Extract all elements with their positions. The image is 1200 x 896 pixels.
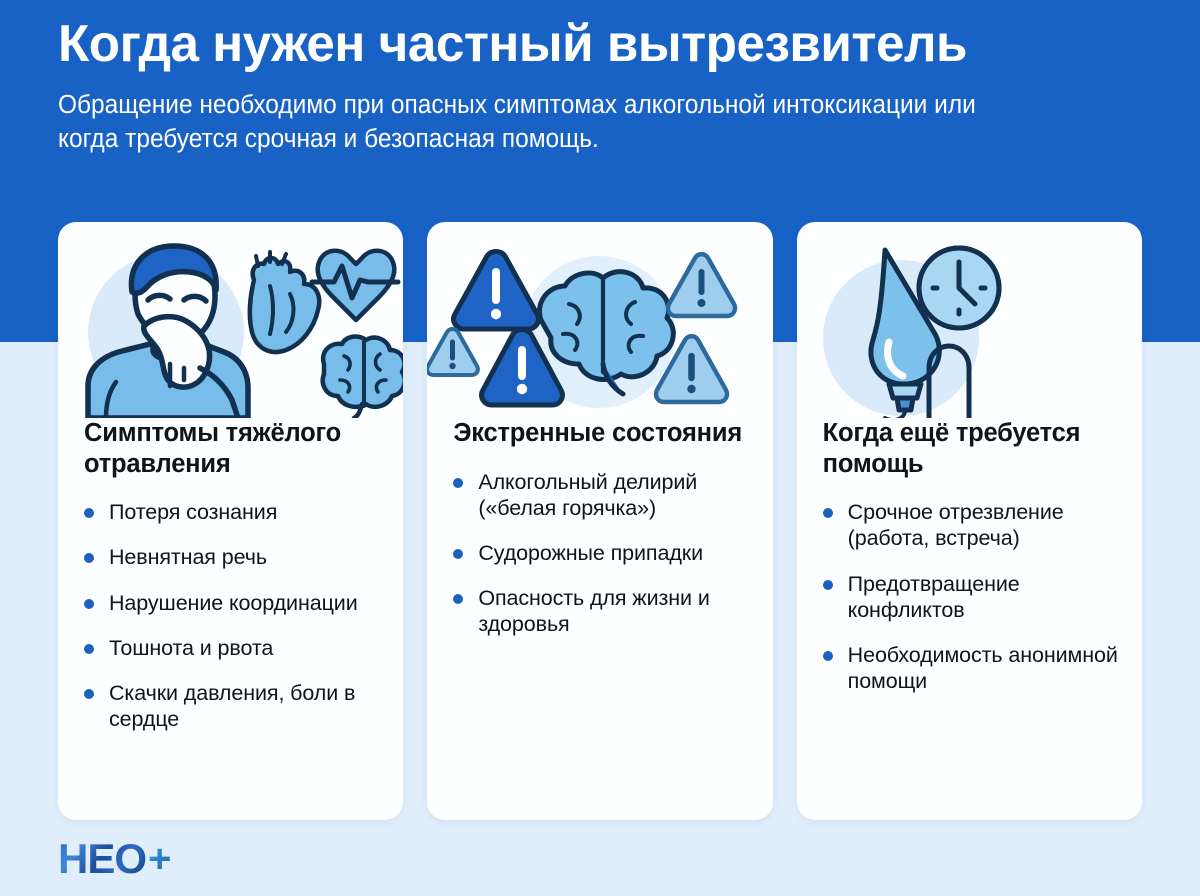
list-item: Потеря сознания xyxy=(84,499,381,525)
list-item: Срочное отрезвление (работа, встреча) xyxy=(823,499,1120,551)
card-heading: Симптомы тяжёлого отравления xyxy=(84,418,381,479)
warning-triangle-icon xyxy=(427,329,478,375)
list-item: Предотвращение конфликтов xyxy=(823,571,1120,623)
card-illustration-emergency-states xyxy=(427,222,772,418)
anatomical-heart-icon xyxy=(250,252,319,352)
card-illustration-when-else-help xyxy=(797,222,1142,418)
list-item: Необходимость анонимной помощи xyxy=(823,642,1120,694)
page-subtitle: Обращение необходимо при опасных симптом… xyxy=(58,88,1028,156)
infographic-page: Когда нужен частный вытрезвитель Обращен… xyxy=(0,0,1200,896)
list-item: Нарушение координации xyxy=(84,590,381,616)
list-item: Скачки давления, боли в сердце xyxy=(84,680,381,732)
list-item: Невнятная речь xyxy=(84,544,381,570)
cards-row: Симптомы тяжёлого отравления Потеря созн… xyxy=(58,222,1142,820)
card-illustration-severe-poisoning xyxy=(58,222,403,418)
card-body-when-else-help: Когда ещё требуется помощь Срочное отрез… xyxy=(797,418,1142,709)
header-text-block: Когда нужен частный вытрезвитель Обращен… xyxy=(58,16,1148,156)
bullet-list-emergency-states: Алкогольный делирий («белая горячка») Су… xyxy=(453,469,750,638)
brand-logo-plus-icon: + xyxy=(148,839,171,879)
heart-pulse-icon xyxy=(312,251,398,320)
card-heading: Экстренные состояния xyxy=(453,418,750,449)
card-when-else-help: Когда ещё требуется помощь Срочное отрез… xyxy=(797,222,1142,820)
list-item: Опасность для жизни и здоровья xyxy=(453,585,750,637)
brain-icon xyxy=(323,337,404,418)
card-emergency-states: Экстренные состояния Алкогольный делирий… xyxy=(427,222,772,820)
brand-logo-text: НЕО xyxy=(58,838,146,880)
page-title: Когда нужен частный вытрезвитель xyxy=(58,16,1132,72)
clock-icon xyxy=(919,248,999,328)
bullet-list-severe-poisoning: Потеря сознания Невнятная речь Нарушение… xyxy=(84,499,381,732)
list-item: Судорожные припадки xyxy=(453,540,750,566)
card-severe-poisoning: Симптомы тяжёлого отравления Потеря созн… xyxy=(58,222,403,820)
warning-triangle-icon xyxy=(668,254,735,316)
brand-logo: НЕО + xyxy=(58,836,171,882)
card-body-emergency-states: Экстренные состояния Алкогольный делирий… xyxy=(427,418,772,652)
warning-triangle-icon xyxy=(454,252,539,330)
list-item: Алкогольный делирий («белая горячка») xyxy=(453,469,750,521)
card-heading: Когда ещё требуется помощь xyxy=(823,418,1120,479)
list-item: Тошнота и рвота xyxy=(84,635,381,661)
bullet-list-when-else-help: Срочное отрезвление (работа, встреча) Пр… xyxy=(823,499,1120,694)
card-body-severe-poisoning: Симптомы тяжёлого отравления Потеря созн… xyxy=(58,418,403,747)
